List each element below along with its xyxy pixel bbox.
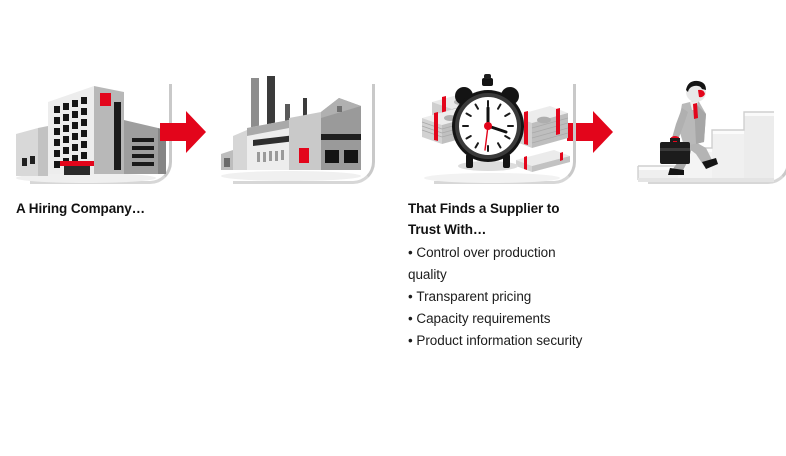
text-block-1: A Hiring Company… bbox=[16, 198, 200, 221]
illustration-stairs bbox=[626, 62, 786, 190]
column-takes-care-of: And Takes Care of… Hidden costsCultural … bbox=[406, 0, 609, 456]
column-heading: A Hiring Company… bbox=[16, 198, 200, 219]
illustration-office-building bbox=[8, 62, 174, 190]
column-hiring-company: A Hiring Company… bbox=[0, 0, 200, 456]
businessman-climbing-stairs-icon bbox=[626, 62, 786, 190]
slide-canvas: A Hiring Company… bbox=[0, 0, 786, 456]
factory-icon bbox=[211, 62, 377, 190]
alarm-clock-and-money-icon bbox=[412, 62, 578, 190]
column-supplier: That Finds a Supplier to Trust With… Con… bbox=[203, 0, 403, 456]
office-building-icon bbox=[8, 62, 174, 190]
illustration-clock-money bbox=[412, 62, 578, 190]
illustration-factory bbox=[211, 62, 377, 190]
arrow-1 bbox=[158, 107, 208, 157]
column-benefits: Benefits from… Reduced investmentsFaster… bbox=[612, 0, 786, 456]
